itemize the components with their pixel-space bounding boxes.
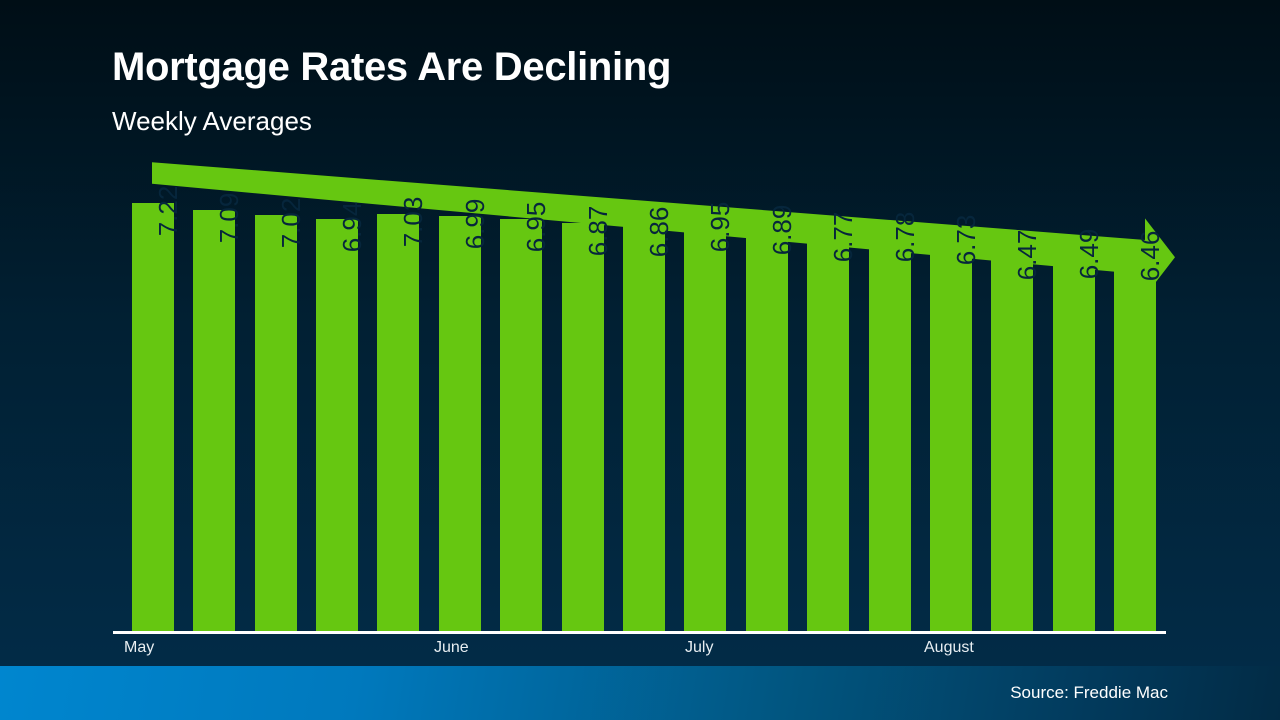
bar-value-label: 6.46 — [1135, 231, 1166, 282]
bar-plot-area: 7.227.097.026.947.036.996.956.876.866.95… — [122, 180, 1166, 632]
bar-rect: 7.22 — [132, 203, 174, 632]
bar-9: 6.86 — [623, 224, 665, 632]
bar-6: 6.99 — [439, 216, 481, 632]
bar-15: 6.47 — [991, 247, 1033, 632]
x-axis-label-july: July — [685, 639, 713, 657]
x-axis-line — [113, 631, 1166, 634]
bar-value-label: 6.95 — [521, 201, 552, 252]
bar-11: 6.89 — [746, 222, 788, 632]
bar-value-label: 7.22 — [153, 185, 184, 236]
bar-2: 7.09 — [193, 210, 235, 632]
bar-value-label: 6.47 — [1012, 230, 1043, 281]
bar-value-label: 6.77 — [828, 212, 859, 263]
bar-rect: 6.99 — [439, 216, 481, 632]
bar-value-label: 6.99 — [460, 199, 491, 250]
bar-value-label: 7.09 — [214, 193, 245, 244]
bar-rect: 6.47 — [991, 247, 1033, 632]
bar-rect: 6.86 — [623, 224, 665, 632]
bar-8: 6.87 — [562, 223, 604, 632]
bar-rect: 6.78 — [869, 229, 911, 632]
bar-3: 7.02 — [255, 215, 297, 633]
bar-rect: 7.03 — [377, 214, 419, 632]
x-axis-label-august: August — [924, 639, 974, 657]
bar-7: 6.95 — [500, 219, 542, 632]
bar-5: 7.03 — [377, 214, 419, 632]
bar-rect: 7.09 — [193, 210, 235, 632]
bar-rect: 6.87 — [562, 223, 604, 632]
bar-rect: 6.95 — [500, 219, 542, 632]
page-title: Mortgage Rates Are Declining — [112, 45, 671, 90]
footer-bar: Source: Freddie Mac — [0, 666, 1280, 720]
bar-rect: 6.94 — [316, 219, 358, 632]
bar-value-label: 6.94 — [337, 202, 368, 253]
bar-1: 7.22 — [132, 203, 174, 632]
bar-value-label: 7.02 — [276, 197, 307, 248]
chart-canvas: Mortgage Rates Are Declining Weekly Aver… — [0, 0, 1280, 660]
bar-16: 6.49 — [1053, 246, 1095, 632]
x-axis-label-may: May — [124, 639, 154, 657]
bar-value-label: 6.49 — [1074, 229, 1105, 280]
bar-rect: 6.49 — [1053, 246, 1095, 632]
page-subtitle: Weekly Averages — [112, 106, 312, 137]
bar-value-label: 7.03 — [398, 197, 429, 248]
bar-12: 6.77 — [807, 229, 849, 632]
bar-17: 6.46 — [1114, 248, 1156, 632]
bar-value-label: 6.89 — [767, 205, 798, 256]
bar-value-label: 6.73 — [951, 214, 982, 265]
bar-value-label: 6.95 — [705, 201, 736, 252]
bar-value-label: 6.86 — [644, 207, 675, 258]
bar-rect: 6.73 — [930, 232, 972, 632]
x-axis-label-june: June — [434, 639, 469, 657]
bar-13: 6.78 — [869, 229, 911, 632]
bar-rect: 6.77 — [807, 229, 849, 632]
bar-rect: 6.89 — [746, 222, 788, 632]
bar-rect: 7.02 — [255, 215, 297, 633]
bar-14: 6.73 — [930, 232, 972, 632]
bar-4: 6.94 — [316, 219, 358, 632]
bar-rect: 6.95 — [684, 219, 726, 632]
bar-10: 6.95 — [684, 219, 726, 632]
bar-rect: 6.46 — [1114, 248, 1156, 632]
source-attribution: Source: Freddie Mac — [1010, 683, 1168, 703]
bar-value-label: 6.78 — [890, 211, 921, 262]
bar-value-label: 6.87 — [583, 206, 614, 257]
